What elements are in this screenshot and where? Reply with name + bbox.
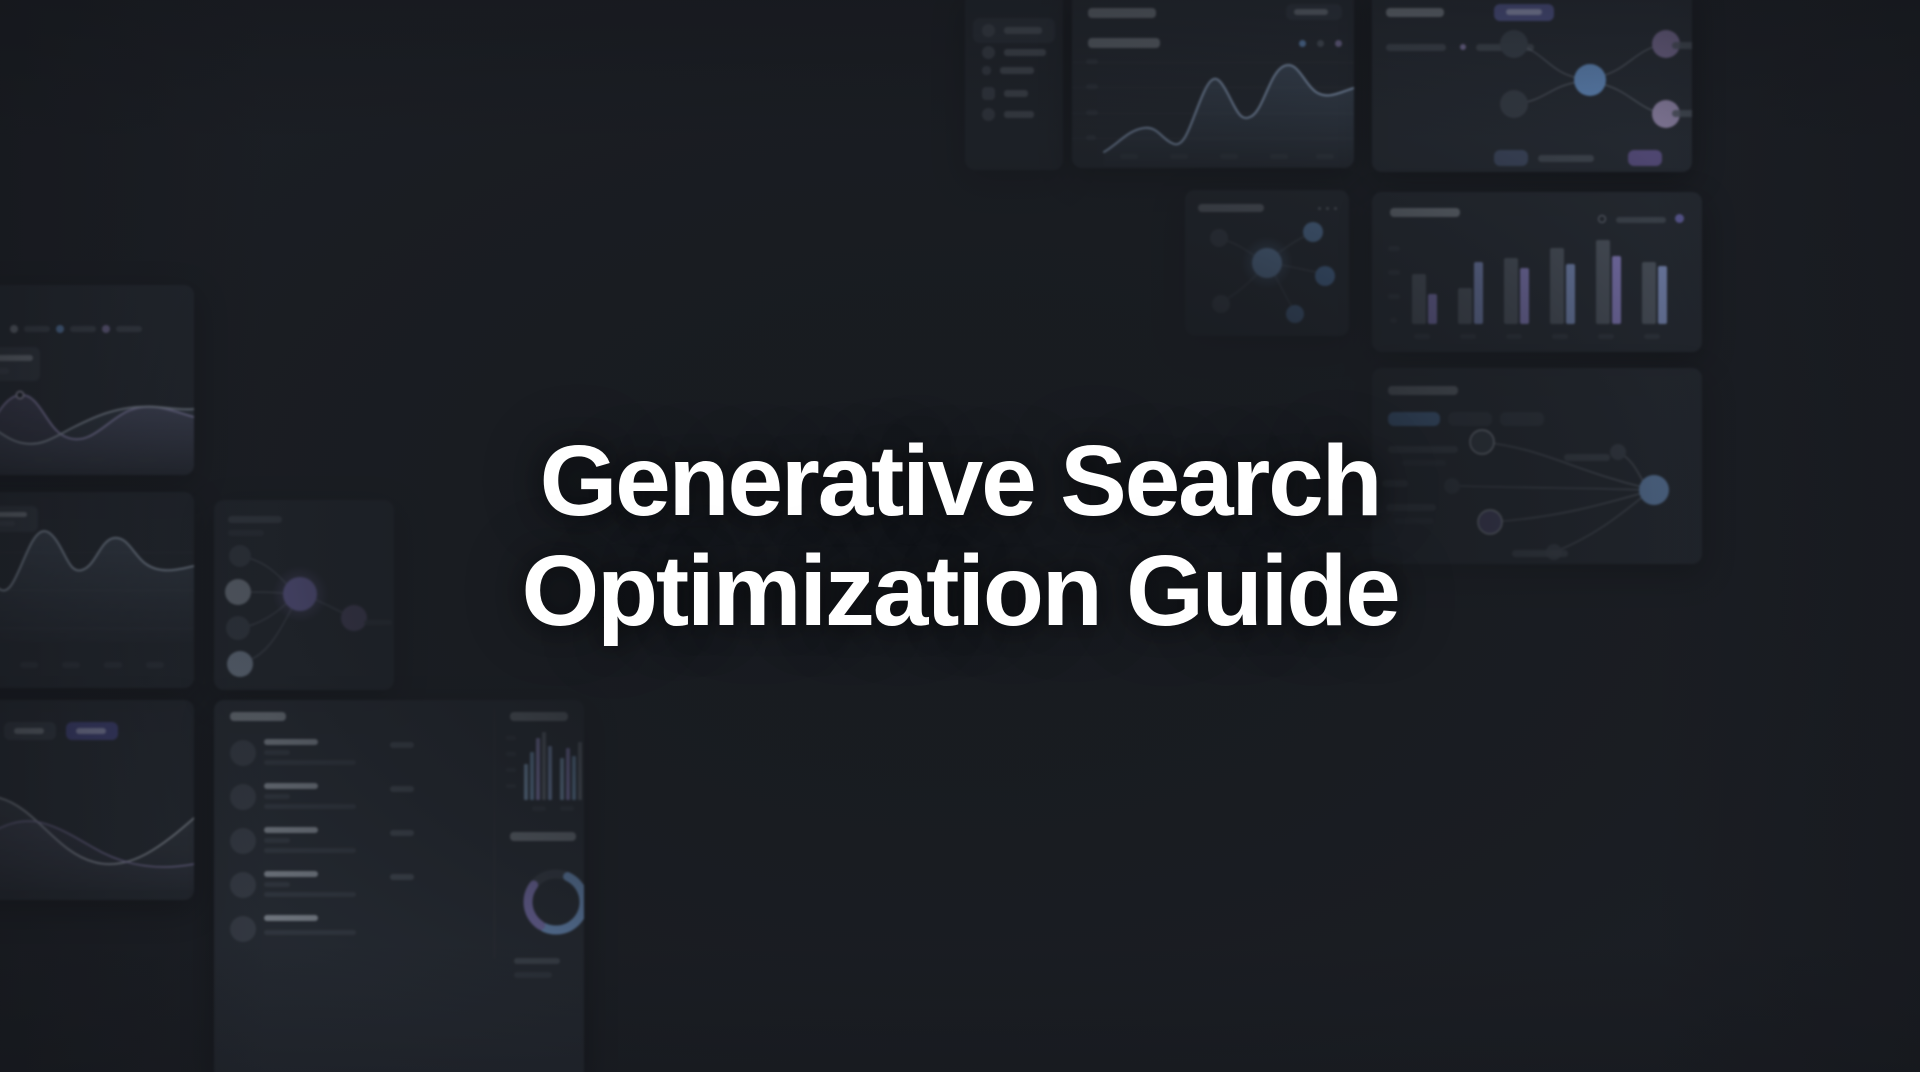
node-graph-card-center [214, 500, 394, 690]
avatar [230, 828, 256, 854]
legend-label-2 [70, 326, 96, 332]
list-item-title [264, 827, 318, 833]
radial-node-svg [1191, 216, 1347, 332]
x-tick-2 [1460, 334, 1476, 339]
list-item-desc [264, 760, 356, 765]
legend-label-1 [24, 326, 50, 332]
list-item-meta [264, 838, 290, 843]
list-item-desc [264, 804, 356, 809]
mini-chart-title [510, 712, 568, 721]
node-graph-svg [1490, 16, 1692, 166]
mini-y-tick-4 [506, 784, 516, 788]
page-title: Generative Search Optimization Guide [430, 426, 1490, 646]
x-tick-4 [62, 662, 80, 668]
card-subtitle [228, 530, 264, 536]
tooltip-title [0, 512, 27, 517]
donut-legend-1 [514, 958, 560, 964]
x-tick-3 [1506, 334, 1522, 339]
smooth-curve-svg [0, 760, 194, 890]
list-item-value [390, 830, 414, 836]
sidebar-nav-card [965, 0, 1063, 170]
hero-banner: Generative Search Optimization Guide [0, 0, 1920, 1072]
list-item-title [264, 783, 318, 789]
list-item[interactable] [230, 912, 480, 948]
primary-button[interactable] [66, 722, 118, 740]
legend-dot-2 [56, 325, 64, 333]
x-tick-3 [1220, 154, 1238, 159]
card-title [1088, 8, 1156, 18]
list-item-desc [264, 848, 356, 853]
card-subtitle [1088, 38, 1160, 48]
sidebar-item-label [1004, 49, 1046, 56]
list-item-desc [264, 930, 356, 935]
footer-chip-purple[interactable] [1628, 150, 1662, 166]
list-item-value [390, 742, 414, 748]
meta-row-1 [1386, 44, 1446, 51]
mini-x-tick-2 [560, 806, 574, 811]
secondary-button[interactable] [4, 722, 56, 740]
gear-icon [982, 108, 995, 121]
legend-dot-blue [1299, 40, 1306, 47]
footer-bar [1538, 155, 1594, 162]
sidebar-item-4[interactable] [982, 87, 1028, 100]
sidebar-item-active[interactable] [973, 18, 1055, 43]
list-item-value [390, 874, 414, 880]
sidebar-item-3[interactable] [982, 66, 1034, 75]
list-item-value [390, 786, 414, 792]
wave-area-svg [0, 526, 194, 642]
donut-legend-2 [514, 972, 552, 978]
legend-label-3 [116, 326, 142, 332]
card-title [228, 516, 282, 523]
y-tick-1 [1388, 246, 1400, 251]
chart-icon [982, 66, 991, 75]
x-tick-4 [1270, 154, 1288, 159]
x-tick-4 [1552, 334, 1568, 339]
tooltip-title [0, 355, 33, 361]
area-chart-svg [1104, 48, 1354, 166]
list-item[interactable] [230, 736, 480, 772]
node-graph-card-mid [1185, 190, 1349, 336]
wave-chart-card-left [0, 492, 194, 688]
x-tick-3 [34, 457, 52, 462]
more-dot-1[interactable] [1318, 207, 1321, 210]
list-item-title [264, 915, 318, 921]
list-table-card [214, 700, 584, 1072]
x-tick-4 [86, 457, 104, 462]
grouped-bar-svg [1408, 232, 1696, 328]
list-item-title [264, 739, 318, 745]
list-item-title [264, 871, 318, 877]
x-tick-5 [1316, 154, 1334, 159]
legend-dot-1 [1598, 215, 1606, 223]
curve-chart-card-left [0, 700, 194, 900]
primary-button-label [1506, 9, 1542, 15]
dashboard-icon [982, 24, 995, 37]
avatar [230, 784, 256, 810]
filter-chip[interactable] [1286, 4, 1342, 20]
node-label [364, 620, 392, 625]
donut-chart-svg [514, 860, 584, 944]
tooltip-value [0, 368, 9, 374]
legend-dot-1 [10, 325, 18, 333]
list-item-desc [264, 892, 356, 897]
footer-chip-blue[interactable] [1494, 150, 1528, 166]
tab-2[interactable] [1448, 412, 1492, 426]
list-item[interactable] [230, 868, 480, 904]
legend-dot-3 [102, 325, 110, 333]
secondary-button-label [14, 728, 44, 734]
tab-3[interactable] [1500, 412, 1544, 426]
y-tick-4 [1390, 318, 1397, 323]
status-dot [1460, 44, 1466, 50]
x-tick-5 [104, 662, 122, 668]
mini-y-tick-3 [506, 768, 516, 772]
sidebar-item-label [1004, 111, 1034, 118]
x-tick-6 [1644, 334, 1660, 339]
mini-y-tick-2 [506, 752, 516, 756]
mini-bar-chart-svg [522, 730, 584, 800]
x-tick-1 [1120, 154, 1138, 159]
line-chart-card [1072, 0, 1354, 168]
more-dot-2[interactable] [1326, 207, 1329, 210]
list-item-meta [264, 794, 290, 799]
node-label-right-2 [1512, 550, 1568, 557]
avatar [230, 916, 256, 942]
list-item[interactable] [230, 824, 480, 860]
hub-node-svg [222, 546, 392, 682]
analytics-icon [982, 46, 995, 59]
primary-button-label [76, 728, 106, 734]
document-icon [982, 87, 995, 100]
donut-title [510, 832, 576, 841]
x-tick-6 [146, 662, 164, 668]
list-item-meta [264, 750, 290, 755]
avatar [230, 872, 256, 898]
list-item[interactable] [230, 780, 480, 816]
chart-tooltip [0, 347, 40, 381]
y-tick-3 [1388, 294, 1400, 299]
sidebar-item-label [1004, 27, 1042, 34]
sidebar-item-label [1000, 67, 1034, 74]
card-title [1390, 208, 1460, 217]
sidebar-item-label [1004, 90, 1028, 97]
node-label-right-1 [1564, 454, 1610, 461]
more-dot-3[interactable] [1334, 207, 1337, 210]
avatar [230, 740, 256, 766]
legend-dot-grey [1317, 40, 1324, 47]
node-graph-card-top [1372, 0, 1692, 172]
node-label-2 [1672, 110, 1692, 117]
area-chart-card-left [0, 285, 194, 475]
filter-chip-label [1294, 9, 1328, 15]
list-item-meta [264, 882, 290, 887]
tab-active[interactable] [1388, 412, 1440, 426]
mini-y-tick-1 [506, 736, 516, 740]
x-tick-5 [138, 457, 156, 462]
bar-chart-card [1372, 192, 1702, 352]
list-title [230, 712, 286, 721]
legend-dot-purple [1335, 40, 1342, 47]
x-tick-2 [1170, 154, 1188, 159]
x-tick-5 [1598, 334, 1614, 339]
column-divider [494, 708, 495, 958]
mini-x-tick-1 [532, 806, 546, 811]
card-title [1388, 386, 1458, 395]
node-label-1 [1672, 42, 1692, 49]
sidebar-item-5[interactable] [982, 108, 1034, 121]
legend-dot-2 [1675, 214, 1684, 223]
card-title [1386, 8, 1444, 17]
card-title [1198, 204, 1264, 212]
sidebar-item-2[interactable] [982, 46, 1046, 59]
legend-label-1 [1616, 217, 1666, 223]
x-tick-3 [20, 662, 38, 668]
x-tick-1 [1414, 334, 1430, 339]
y-tick-2 [1388, 270, 1400, 275]
